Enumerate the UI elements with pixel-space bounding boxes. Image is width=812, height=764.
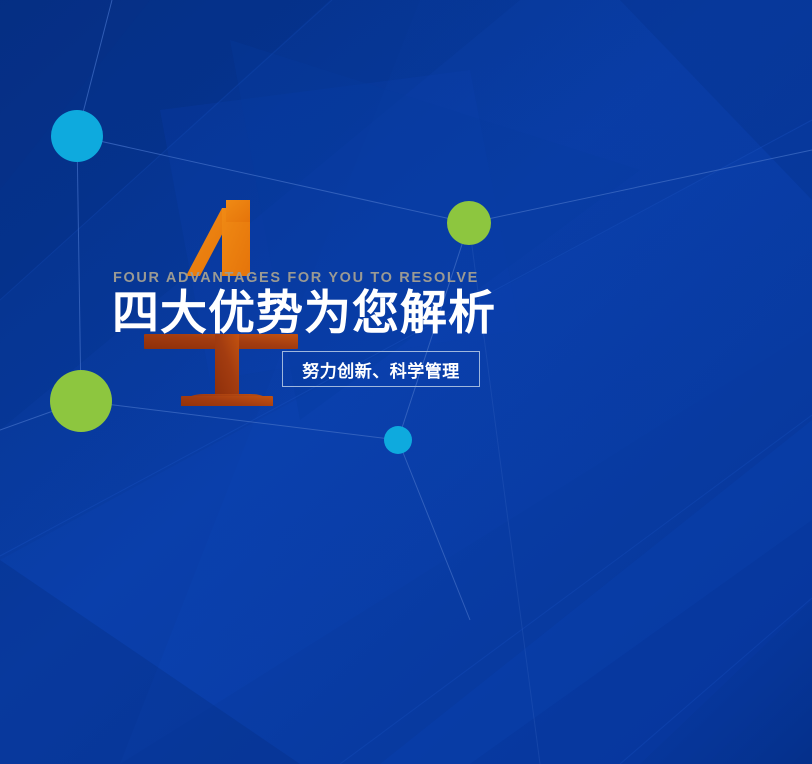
network-dots [50, 110, 491, 454]
decorative-dot-network [0, 0, 812, 764]
dot-cyan-bottom [384, 426, 412, 454]
line-cyan-bottom-to-green-right [398, 223, 469, 440]
banner-stage: FOUR ADVANTAGES FOR YOU TO RESOLVE 四大优势为… [0, 0, 812, 764]
dot-green-bottom-left [50, 370, 112, 432]
line-green-right-extend-down [469, 223, 540, 764]
line-cyan-bottom-extend-down [398, 440, 470, 620]
dot-green-right [447, 201, 491, 245]
line-green-bottom-left-to-cyan-bottom [81, 401, 398, 440]
line-cyan-to-green-right [77, 136, 469, 223]
dot-cyan-top-left [51, 110, 103, 162]
line-green-right-extend-right [469, 150, 812, 223]
network-lines [0, 0, 812, 764]
line-cyan-to-green-bottom-left [77, 136, 81, 401]
